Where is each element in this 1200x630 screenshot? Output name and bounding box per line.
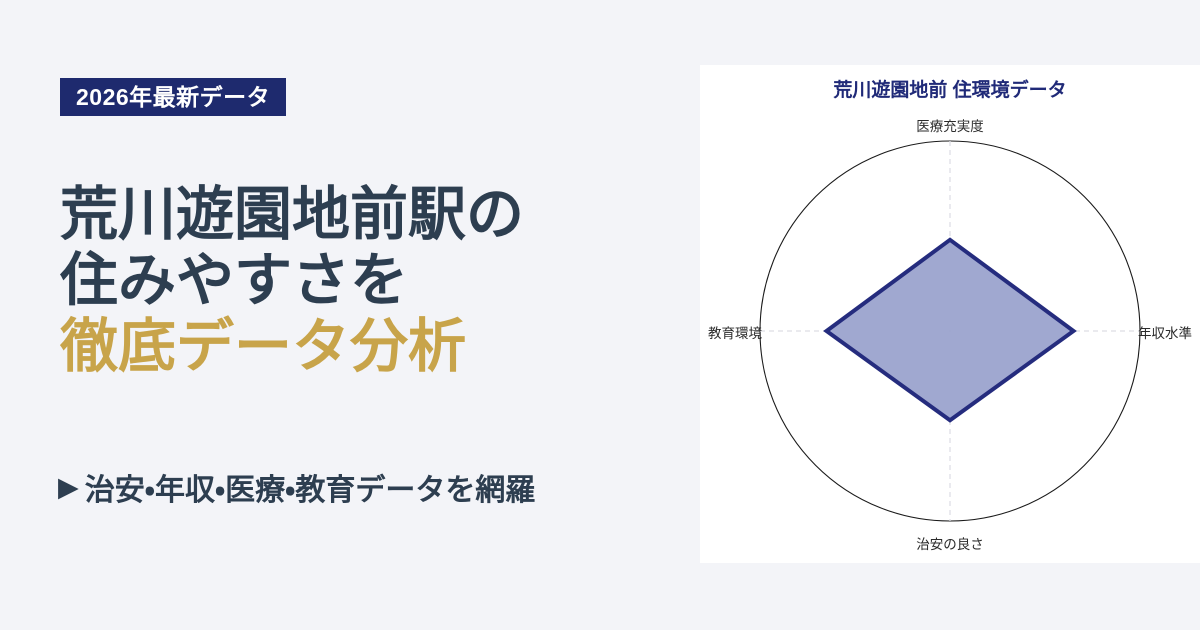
radar-chart-svg xyxy=(700,65,1200,563)
subtitle: ▶ 治安・年収・医療・教育データを網羅 xyxy=(58,465,535,509)
radar-axis-label-bottom: 治安の良さ xyxy=(700,533,1200,553)
subtitle-label: 治安・年収・医療・教育データを網羅 xyxy=(85,465,536,509)
date-badge-label: 2026年最新データ xyxy=(76,86,270,109)
ogp-canvas: 2026年最新データ 荒川遊園地前駅の 住みやすさを 徹底データ分析 ▶ 治安・… xyxy=(0,0,1200,630)
page-title: 荒川遊園地前駅の 住みやすさを 徹底データ分析 xyxy=(60,182,700,380)
radar-axis-label-left: 教育環境 xyxy=(708,322,762,342)
date-badge: 2026年最新データ xyxy=(60,78,286,116)
radar-chart-panel: 荒川遊園地前 住環境データ 医療充実度 年収水準 治安の良さ 教育環境 xyxy=(700,65,1200,563)
radar-axis-label-right: 年収水準 xyxy=(1138,322,1192,342)
headline-line-3-accent: 徹底データ分析 xyxy=(60,314,700,380)
left-text-column: 2026年最新データ 荒川遊園地前駅の 住みやすさを 徹底データ分析 ▶ 治安・… xyxy=(0,0,700,630)
headline-line-2: 住みやすさを xyxy=(60,248,700,314)
radar-data-polygon xyxy=(827,240,1074,420)
headline-line-1: 荒川遊園地前駅の xyxy=(60,182,700,248)
triangle-right-icon: ▶ xyxy=(58,474,79,501)
radar-axis-label-top: 医療充実度 xyxy=(700,115,1200,135)
